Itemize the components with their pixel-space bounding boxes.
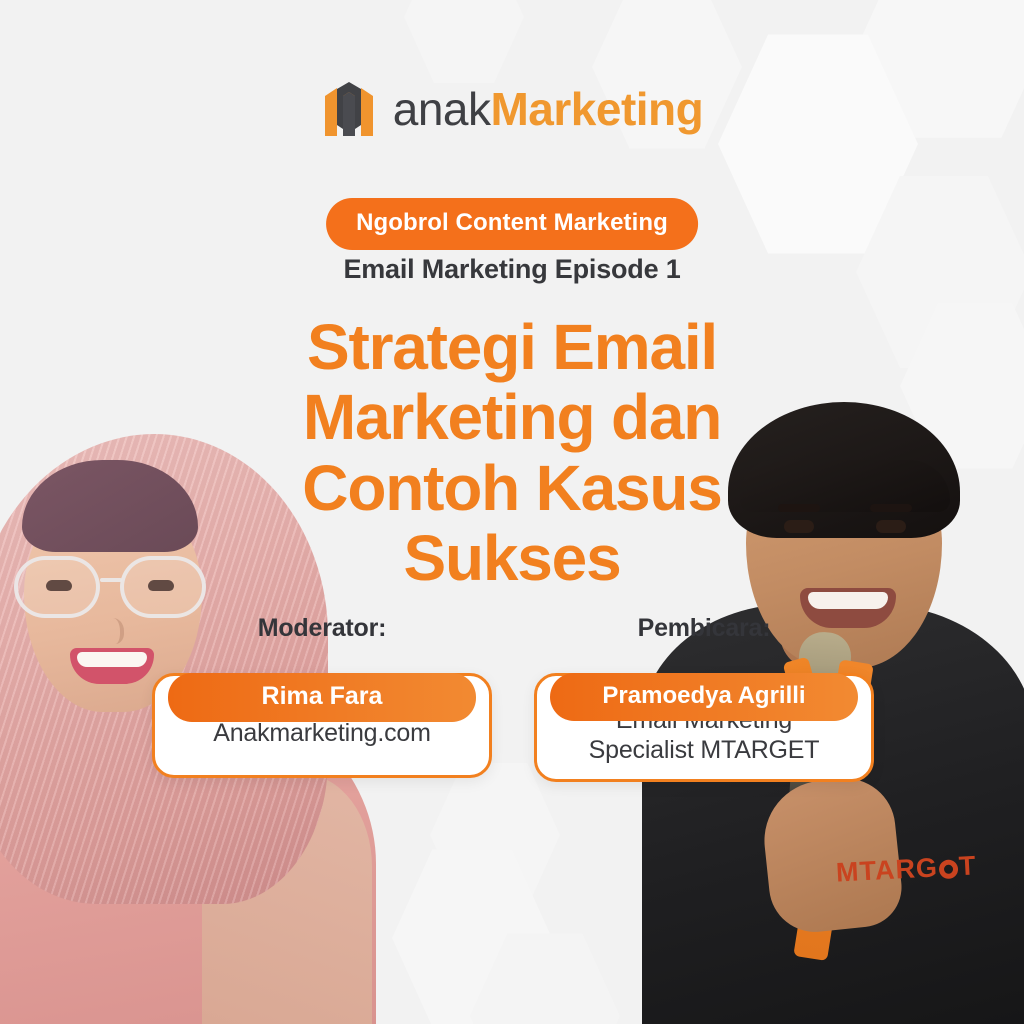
speaker-card-wrap: Pramoedya Agrilli Email MarketingSpecial…	[534, 673, 874, 782]
speaker-card: Pembicara: Pramoedya Agrilli Email Marke…	[534, 614, 874, 782]
moderator-card: Moderator: Rima Fara Anakmarketing.com	[152, 614, 492, 778]
brand-name-part1: anak	[393, 83, 491, 135]
moderator-name-pill: Rima Fara	[168, 673, 476, 722]
moderator-card-wrap: Rima Fara Anakmarketing.com	[152, 673, 492, 778]
brand-name-part2: Marketing	[490, 83, 703, 135]
anakmarketing-m-logo-icon	[321, 78, 377, 140]
speaker-role-label: Pembicara:	[534, 614, 874, 643]
speaker-name-pill: Pramoedya Agrilli	[550, 673, 858, 721]
brand-logo: anakMarketing	[0, 78, 1024, 140]
moderator-role-label: Moderator:	[152, 614, 492, 643]
promo-poster: MTARGT anakMarketing Ngobrol Content Mar…	[0, 0, 1024, 1024]
episode-label: Email Marketing Episode 1	[0, 254, 1024, 285]
brand-logo-text: anakMarketing	[393, 86, 704, 132]
poster-content: anakMarketing Ngobrol Content Marketing …	[0, 0, 1024, 1024]
page-title: Strategi Email Marketing dan Contoh Kasu…	[232, 312, 792, 594]
moderator-detail-text: Anakmarketing.com	[213, 719, 431, 749]
series-badge: Ngobrol Content Marketing	[326, 198, 698, 250]
